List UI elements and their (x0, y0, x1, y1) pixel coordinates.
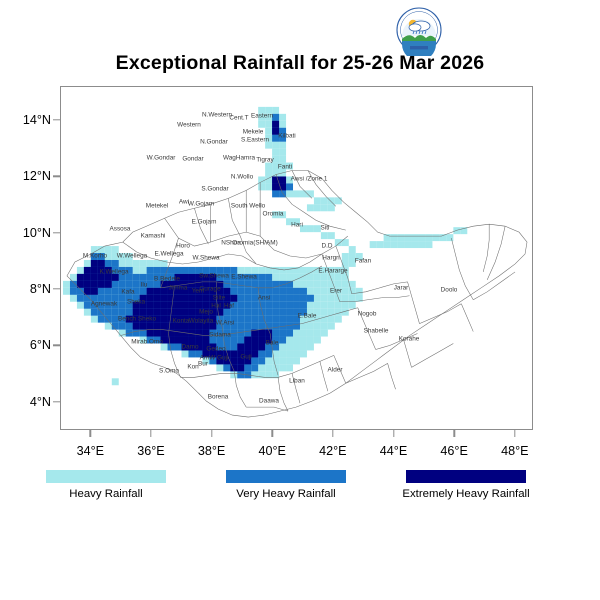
legend-label: Heavy Rainfall (16, 488, 196, 500)
rainfall-map-figure: Exceptional Rainfall for 25-26 Mar 2026 (0, 0, 600, 600)
map-plot-area: WesternN.WesternCent.TEasternMekeleS.Eas… (60, 86, 533, 430)
page-title: Exceptional Rainfall for 25-26 Mar 2026 (0, 52, 600, 75)
legend-entry: Extremely Heavy Rainfall (376, 470, 556, 500)
legend: Heavy RainfallVery Heavy RainfallExtreme… (0, 470, 600, 510)
x-axis-tick-mark (90, 430, 91, 437)
legend-color-swatch (406, 470, 526, 483)
y-axis-tick-mark (53, 176, 60, 177)
y-axis-tick-label: 8°N (0, 282, 51, 296)
y-axis-tick-mark (53, 119, 60, 120)
x-axis-tick-mark (332, 430, 333, 437)
y-axis-tick-label: 10°N (0, 226, 51, 240)
x-axis-tick-mark (393, 430, 394, 437)
ethiopia-map-svg (61, 87, 532, 429)
y-axis-tick-mark (53, 232, 60, 233)
x-axis-tick-mark (211, 430, 212, 437)
y-axis-tick-mark (53, 401, 60, 402)
x-axis-tick-mark (272, 430, 273, 437)
legend-label: Extremely Heavy Rainfall (376, 488, 556, 500)
x-axis-tick-mark (150, 430, 151, 437)
y-axis-tick-mark (53, 345, 60, 346)
legend-color-swatch (46, 470, 166, 483)
x-axis-tick-mark (453, 430, 454, 437)
legend-entry: Heavy Rainfall (16, 470, 196, 500)
y-axis-tick-label: 4°N (0, 395, 51, 409)
y-axis-tick-label: 6°N (0, 338, 51, 352)
legend-entry: Very Heavy Rainfall (196, 470, 376, 500)
x-axis-tick-mark (514, 430, 515, 437)
legend-label: Very Heavy Rainfall (196, 488, 376, 500)
legend-color-swatch (226, 470, 346, 483)
ethiopian-meteorological-institute-logo (391, 6, 447, 56)
y-axis-tick-mark (53, 288, 60, 289)
x-axis-tick-label: 48°E (455, 444, 575, 458)
y-axis-tick-label: 12°N (0, 169, 51, 183)
y-axis-tick-label: 14°N (0, 113, 51, 127)
